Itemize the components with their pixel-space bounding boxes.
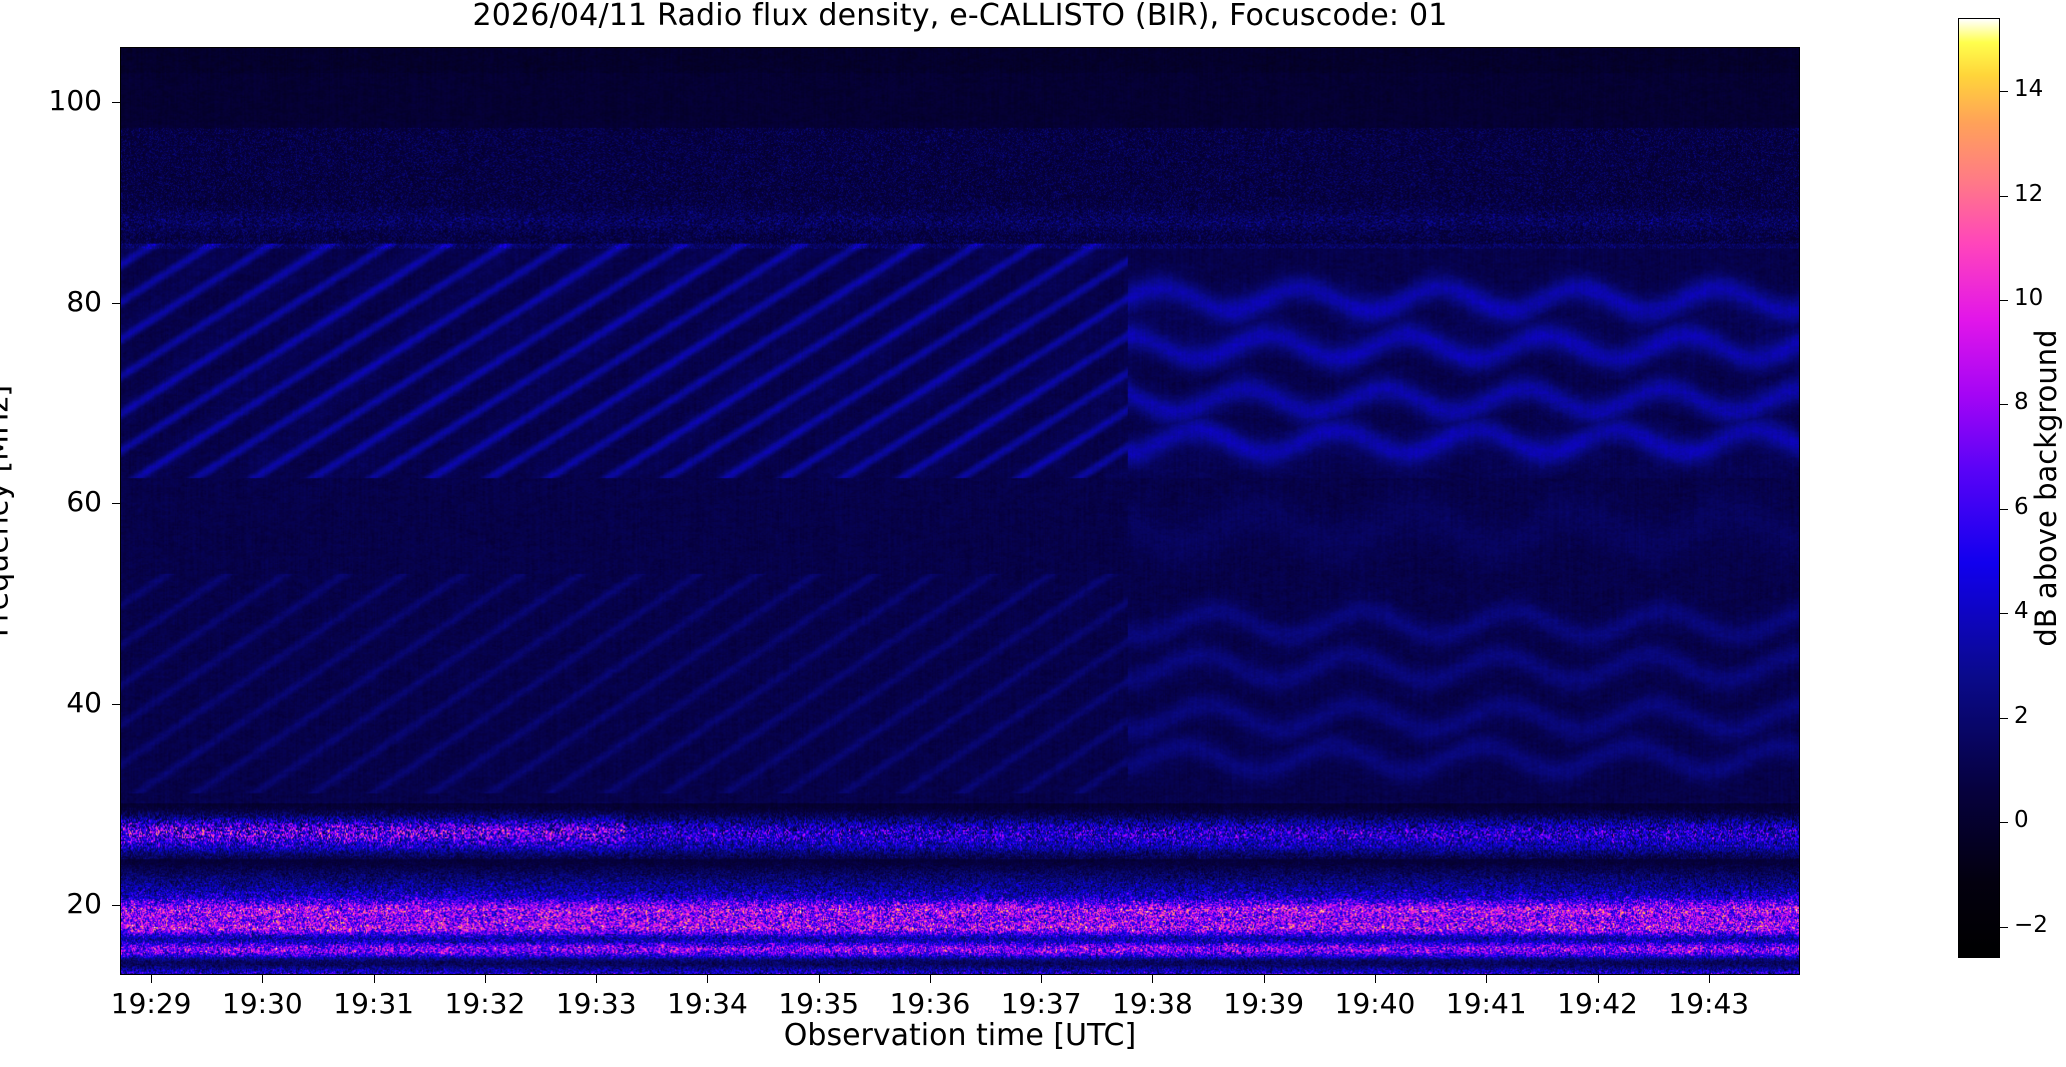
colorbar-tick-label: 8 [2014, 389, 2029, 415]
y-tick-mark [112, 503, 120, 504]
colorbar [1958, 18, 2000, 958]
y-tick-mark [112, 102, 120, 103]
colorbar-tick-label: 4 [2014, 598, 2029, 624]
y-tick-mark [112, 704, 120, 705]
x-tick-mark [262, 975, 263, 983]
colorbar-tick-mark [2000, 613, 2008, 614]
x-tick-mark [930, 975, 931, 983]
colorbar-tick-mark [2000, 404, 2008, 405]
x-axis-label: Observation time [UTC] [120, 1018, 1800, 1053]
x-tick-mark [1709, 975, 1710, 983]
y-tick-mark [112, 905, 120, 906]
chart-title: 2026/04/11 Radio flux density, e-CALLIST… [120, 0, 1800, 34]
x-tick-mark [1152, 975, 1153, 983]
colorbar-tick-label: 6 [2014, 494, 2029, 520]
x-tick-mark [1486, 975, 1487, 983]
x-tick-mark [819, 975, 820, 983]
x-tick-mark [485, 975, 486, 983]
colorbar-label: dB above background [2029, 329, 2063, 646]
colorbar-tick-label: 12 [2014, 181, 2043, 207]
colorbar-tick-label: 10 [2014, 285, 2043, 311]
spectrogram-plot-area [120, 47, 1800, 975]
x-tick-mark [1264, 975, 1265, 983]
x-tick-mark [374, 975, 375, 983]
y-tick-label: 100 [0, 84, 102, 117]
x-tick-label: 19:43 [1629, 987, 1789, 1020]
colorbar-tick-label: 0 [2014, 807, 2029, 833]
colorbar-tick-label: 2 [2014, 703, 2029, 729]
colorbar-tick-mark [2000, 822, 2008, 823]
x-tick-mark [151, 975, 152, 983]
colorbar-tick-mark [2000, 718, 2008, 719]
colorbar-tick-label: −2 [2014, 912, 2048, 938]
x-tick-mark [1598, 975, 1599, 983]
x-tick-mark [596, 975, 597, 983]
colorbar-gradient [1959, 19, 1999, 957]
colorbar-tick-mark [2000, 927, 2008, 928]
x-tick-mark [1375, 975, 1376, 983]
x-tick-mark [1041, 975, 1042, 983]
spectrogram-image [121, 48, 1799, 974]
x-tick-mark [707, 975, 708, 983]
colorbar-tick-label: 14 [2014, 76, 2043, 102]
y-tick-label: 20 [0, 887, 102, 920]
colorbar-tick-mark [2000, 91, 2008, 92]
y-tick-mark [112, 303, 120, 304]
colorbar-tick-mark [2000, 196, 2008, 197]
colorbar-tick-mark [2000, 300, 2008, 301]
y-tick-label: 40 [0, 686, 102, 719]
y-tick-label: 80 [0, 285, 102, 318]
y-tick-label: 60 [0, 485, 102, 518]
colorbar-tick-mark [2000, 509, 2008, 510]
